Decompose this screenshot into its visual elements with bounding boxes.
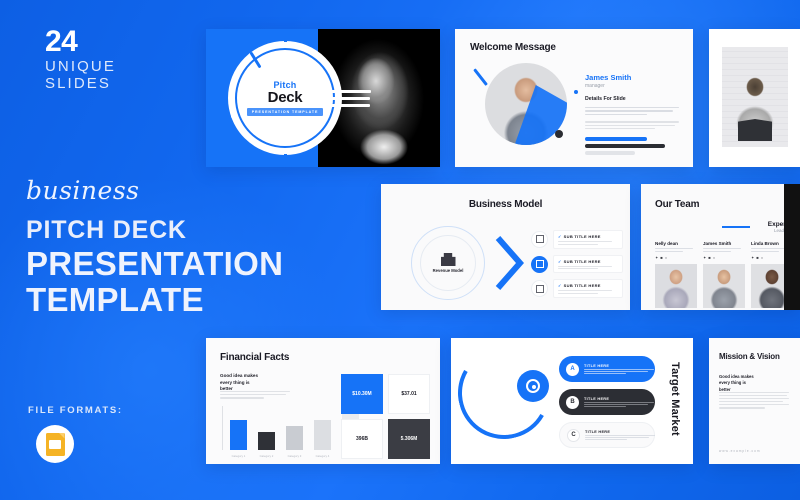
twitter-icon: ✦	[703, 255, 706, 260]
slide7-pill-b-title: TITLE HERE	[584, 397, 654, 401]
slide1-inner-circle: Pitch Deck PRESENTATION TEMPLATE	[237, 50, 333, 146]
slide-our-team[interactable]: Our Team Expert Leader Nelly dean ✦■○ Ja…	[641, 184, 800, 310]
slide-pitch-deck[interactable]: Pitch Deck PRESENTATION TEMPLATE	[206, 29, 440, 167]
slide2-person-name: James Smith	[585, 73, 681, 82]
chart-bar-3	[286, 426, 303, 450]
slide2-title: Welcome Message	[470, 42, 556, 53]
slide1-tick-top	[284, 35, 287, 42]
slide8-title: Mission & Vision	[719, 352, 780, 361]
team-member-1-photo	[655, 264, 697, 308]
slide-photo-analyst[interactable]	[709, 29, 800, 167]
slide-count-number: 24	[45, 26, 116, 58]
slide7-vertical-title: Target Market	[669, 362, 681, 436]
team-member-2-photo	[703, 264, 745, 308]
slide2-progress-bar-2	[585, 144, 665, 148]
slide-welcome-message[interactable]: Welcome Message James Smith manager Deta…	[455, 29, 693, 167]
slide7-pill-a[interactable]: A TITLE HERE	[559, 356, 655, 382]
main-title-line1: PITCH DECK	[26, 215, 283, 246]
chart-bars	[230, 410, 359, 450]
chart-category-1: Category 1	[230, 454, 247, 458]
slide4-item-1[interactable]: ✓SUB TITLE HERE	[531, 230, 623, 249]
slide4-inner-ring: Revenue Model	[420, 235, 476, 291]
team-member-2-name: James Smith	[703, 241, 745, 246]
chart-bar-2	[258, 432, 275, 450]
slide7-pill-a-letter: A	[566, 363, 579, 376]
file-formats-label: FILE FORMATS:	[28, 405, 123, 416]
slide2-progress-bars	[585, 137, 681, 155]
slide6-subheading: Good idea makes every thing is better	[220, 373, 258, 393]
slide5-accent-line	[722, 226, 750, 228]
slide2-details-heading: Details For Slide	[585, 96, 681, 103]
slide1-bar-1	[313, 90, 371, 93]
slide6-sub-line1: Good idea makes	[220, 373, 258, 380]
slide6-stat-boxes: $10.30M $37.01 396B 5.306M	[341, 374, 430, 459]
stat-box-3: 396B	[341, 419, 383, 459]
slide-business-model[interactable]: Business Model Revenue Model ✓SUB TITLE …	[381, 184, 630, 310]
team-member-2[interactable]: James Smith ✦■○	[703, 241, 745, 308]
slide-count-label-line1: UNIQUE	[45, 58, 116, 76]
slide4-arrow-icon	[494, 234, 524, 292]
team-member-1[interactable]: Nelly dean ✦■○	[655, 241, 697, 308]
twitter-icon: ✦	[751, 255, 754, 260]
slide8-url: www.example.com	[719, 449, 761, 453]
slide7-pill-a-title: TITLE HERE	[584, 364, 654, 368]
chart-category-3: Category 3	[286, 454, 303, 458]
slide6-sub-line2: every thing is	[220, 380, 258, 387]
slide4-item-2-title: ✓SUB TITLE HERE	[558, 259, 618, 264]
slide1-deck-text: Deck	[268, 89, 303, 106]
stat-box-2: $37.01	[388, 374, 430, 414]
slide4-icon-2	[531, 256, 548, 273]
slide2-name-last: Smith	[610, 73, 631, 82]
left-info-panel: 24 UNIQUE SLIDES business PITCH DECK PRE…	[0, 0, 200, 500]
slide3-analyst-photo	[722, 47, 788, 147]
slide2-accent-dot	[574, 90, 578, 94]
slide5-title: Our Team	[655, 199, 699, 210]
slide4-title: Business Model	[381, 199, 630, 210]
team-member-2-socials[interactable]: ✦■○	[703, 255, 745, 260]
slide-target-market[interactable]: A TITLE HERE B TITLE HERE C TITLE HERE	[451, 338, 693, 464]
facebook-icon: ■	[708, 255, 710, 260]
chart-y-axis	[222, 406, 223, 450]
slide2-text-column: James Smith manager Details For Slide	[585, 73, 681, 155]
slide2-body-text-2	[585, 121, 681, 129]
slide8-body-text	[719, 392, 789, 409]
slide4-center-label: Revenue Model	[433, 268, 464, 273]
slide7-pill-b[interactable]: B TITLE HERE	[559, 389, 655, 415]
chart-category-4: Category 4	[314, 454, 331, 458]
slide7-pill-list: A TITLE HERE B TITLE HERE C TITLE HERE	[559, 356, 655, 455]
slide1-dot	[231, 115, 234, 118]
slide7-pill-c-title: TITLE HERE	[585, 430, 655, 434]
chart-bar-4	[314, 420, 331, 450]
revenue-model-icon	[441, 253, 456, 266]
facebook-icon: ■	[756, 255, 758, 260]
team-member-1-name: Nelly dean	[655, 241, 697, 246]
target-icon	[517, 370, 549, 402]
chart-bar-1	[230, 420, 247, 450]
slide4-item-3-title: ✓SUB TITLE HERE	[558, 283, 618, 288]
slide8-subheading: Good idea makes every thing is better	[719, 374, 754, 393]
main-title-line3: TEMPLATE	[26, 282, 283, 319]
chart-category-2: Category 2	[258, 454, 275, 458]
slide5-members: Nelly dean ✦■○ James Smith ✦■○ Linda Bro…	[655, 241, 793, 308]
slide-financial-facts[interactable]: Financial Facts Good idea makes every th…	[206, 338, 440, 464]
slide4-item-list: ✓SUB TITLE HERE ✓SUB TITLE HERE ✓SUB TIT…	[531, 230, 623, 304]
google-slides-icon	[36, 425, 74, 463]
slide5-dark-edge	[784, 184, 800, 310]
slide-count-block: 24 UNIQUE SLIDES	[45, 26, 116, 93]
twitter-icon: ✦	[655, 255, 658, 260]
script-word: business	[26, 176, 140, 205]
slide2-person-role: manager	[585, 83, 681, 89]
slide4-icon-3	[531, 280, 548, 297]
slide4-item-3[interactable]: ✓SUB TITLE HERE	[531, 279, 623, 298]
main-title-group: PITCH DECK PRESENTATION TEMPLATE	[26, 215, 283, 319]
stat-box-4: 5.306M	[388, 419, 430, 459]
slide2-progress-bar-3	[585, 151, 635, 155]
slide7-pill-b-letter: B	[566, 396, 579, 409]
slide2-body-text	[585, 107, 681, 115]
slide4-item-2[interactable]: ✓SUB TITLE HERE	[531, 255, 623, 274]
chart-category-labels: Category 1Category 2Category 3Category 4…	[230, 454, 359, 458]
slide2-progress-bar-1	[585, 137, 647, 141]
slide7-pill-c[interactable]: C TITLE HERE	[559, 422, 655, 448]
slide7-pill-c-letter: C	[567, 429, 580, 442]
slide1-subtitle: PRESENTATION TEMPLATE	[247, 108, 324, 116]
slide2-dark-dot	[555, 130, 563, 138]
slide6-title: Financial Facts	[220, 352, 289, 363]
slide6-body-text	[220, 391, 290, 399]
link-icon: ○	[761, 255, 763, 260]
team-member-1-socials[interactable]: ✦■○	[655, 255, 697, 260]
slide2-pen-accent	[473, 68, 488, 86]
main-title-line2: PRESENTATION	[26, 246, 283, 283]
link-icon: ○	[665, 255, 667, 260]
slide1-bar-2	[324, 97, 370, 100]
slide4-item-1-title: ✓SUB TITLE HERE	[558, 234, 618, 239]
slide1-tick-bottom	[284, 154, 287, 161]
facebook-icon: ■	[660, 255, 662, 260]
slide4-icon-1	[531, 231, 548, 248]
slide1-bar-dot	[307, 97, 310, 100]
slide-mission-vision[interactable]: Mission & Vision Good idea makes every t…	[709, 338, 800, 464]
slide-count-label-line2: SLIDES	[45, 75, 116, 93]
stat-box-1: $10.30M	[341, 374, 383, 414]
link-icon: ○	[713, 255, 715, 260]
slide1-bar-3	[318, 104, 370, 107]
slide2-name-first: James	[585, 73, 610, 82]
